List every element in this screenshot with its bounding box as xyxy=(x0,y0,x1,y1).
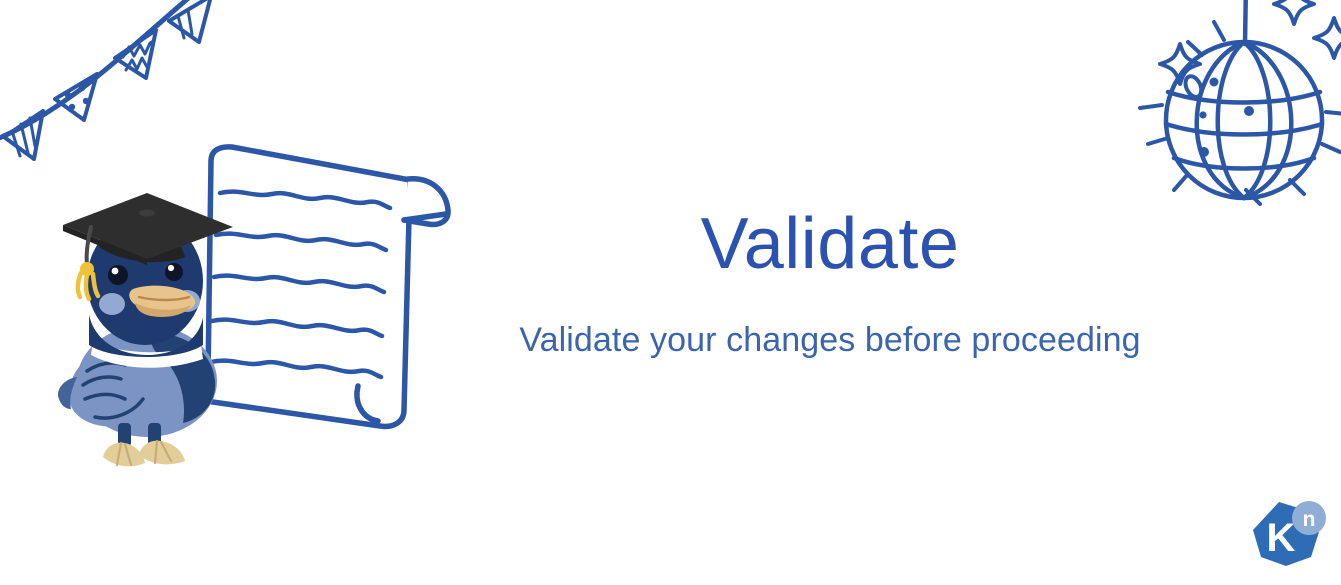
bird-mascot-graduate-icon xyxy=(55,185,240,475)
page-subtitle: Validate your changes before proceeding xyxy=(470,319,1190,362)
diploma-scroll-icon xyxy=(178,138,468,453)
text-block: Validate Validate your changes before pr… xyxy=(470,205,1190,362)
slide-canvas: Validate Validate your changes before pr… xyxy=(0,0,1341,585)
logo-badge-letter-n: n xyxy=(1303,508,1316,531)
bunting-flags-icon xyxy=(0,0,222,179)
page-title: Validate xyxy=(470,205,1190,284)
brand-logo[interactable]: K n xyxy=(1249,500,1327,572)
disco-ball-icon xyxy=(1118,0,1341,227)
logo-letter-k: K xyxy=(1267,516,1296,560)
